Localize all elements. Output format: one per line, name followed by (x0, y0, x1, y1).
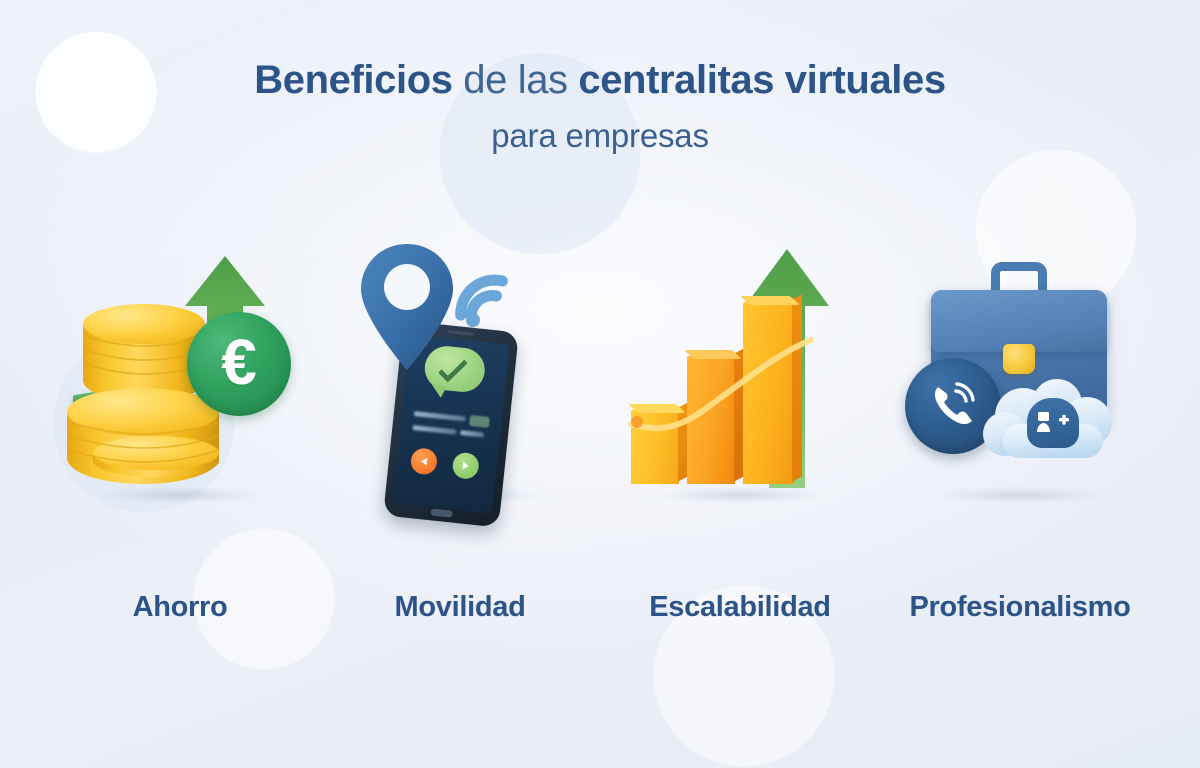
growth-bar-chart-icon (615, 240, 865, 510)
euro-symbol: € (221, 330, 257, 394)
infographic-canvas: Beneficios de las centralitas virtuales … (0, 0, 1200, 768)
benefit-label-ahorro: Ahorro (40, 591, 320, 624)
trend-curve (625, 284, 821, 484)
placeholder-text-line (412, 425, 456, 435)
call-accept-button[interactable] (451, 451, 480, 480)
briefcase-cloud-phone-icon (895, 240, 1145, 510)
phone-home-button[interactable] (430, 508, 453, 517)
bar-group (631, 284, 811, 484)
location-pin-icon (359, 242, 455, 370)
coin (67, 388, 219, 436)
placeholder-text-line (414, 411, 466, 421)
benefit-label-profesionalismo: Profesionalismo (880, 591, 1160, 624)
coin (83, 304, 205, 344)
placeholder-badge (469, 415, 490, 428)
benefit-item-ahorro: € Ahorro (40, 240, 320, 600)
briefcase-clasp (1003, 344, 1035, 374)
coin (93, 436, 219, 470)
title-connector: de las (453, 58, 579, 102)
page-title: Beneficios de las centralitas virtuales (0, 58, 1200, 103)
benefit-label-movilidad: Movilidad (320, 591, 600, 624)
coin-stack-euro-icon: € (55, 240, 305, 510)
title-word-beneficios: Beneficios (254, 58, 452, 102)
euro-badge: € (187, 312, 291, 416)
call-decline-button[interactable] (410, 447, 439, 476)
briefcase-flap (931, 290, 1107, 352)
ground-shadow (95, 486, 265, 504)
add-user-icon (1027, 398, 1079, 448)
ground-shadow (935, 486, 1105, 504)
page-subtitle: para empresas (0, 117, 1200, 155)
benefits-row: € Ahorro (40, 240, 1160, 600)
benefit-item-profesionalismo: Profesionalismo (880, 240, 1160, 600)
title-block: Beneficios de las centralitas virtuales … (0, 58, 1200, 155)
benefit-item-escalabilidad: Escalabilidad (600, 240, 880, 600)
title-phrase-centralitas-virtuales: centralitas virtuales (578, 58, 945, 102)
benefit-label-escalabilidad: Escalabilidad (600, 591, 880, 624)
benefit-item-movilidad: Movilidad (320, 240, 600, 600)
placeholder-text-line (460, 430, 484, 437)
smartphone-location-icon (335, 240, 585, 510)
